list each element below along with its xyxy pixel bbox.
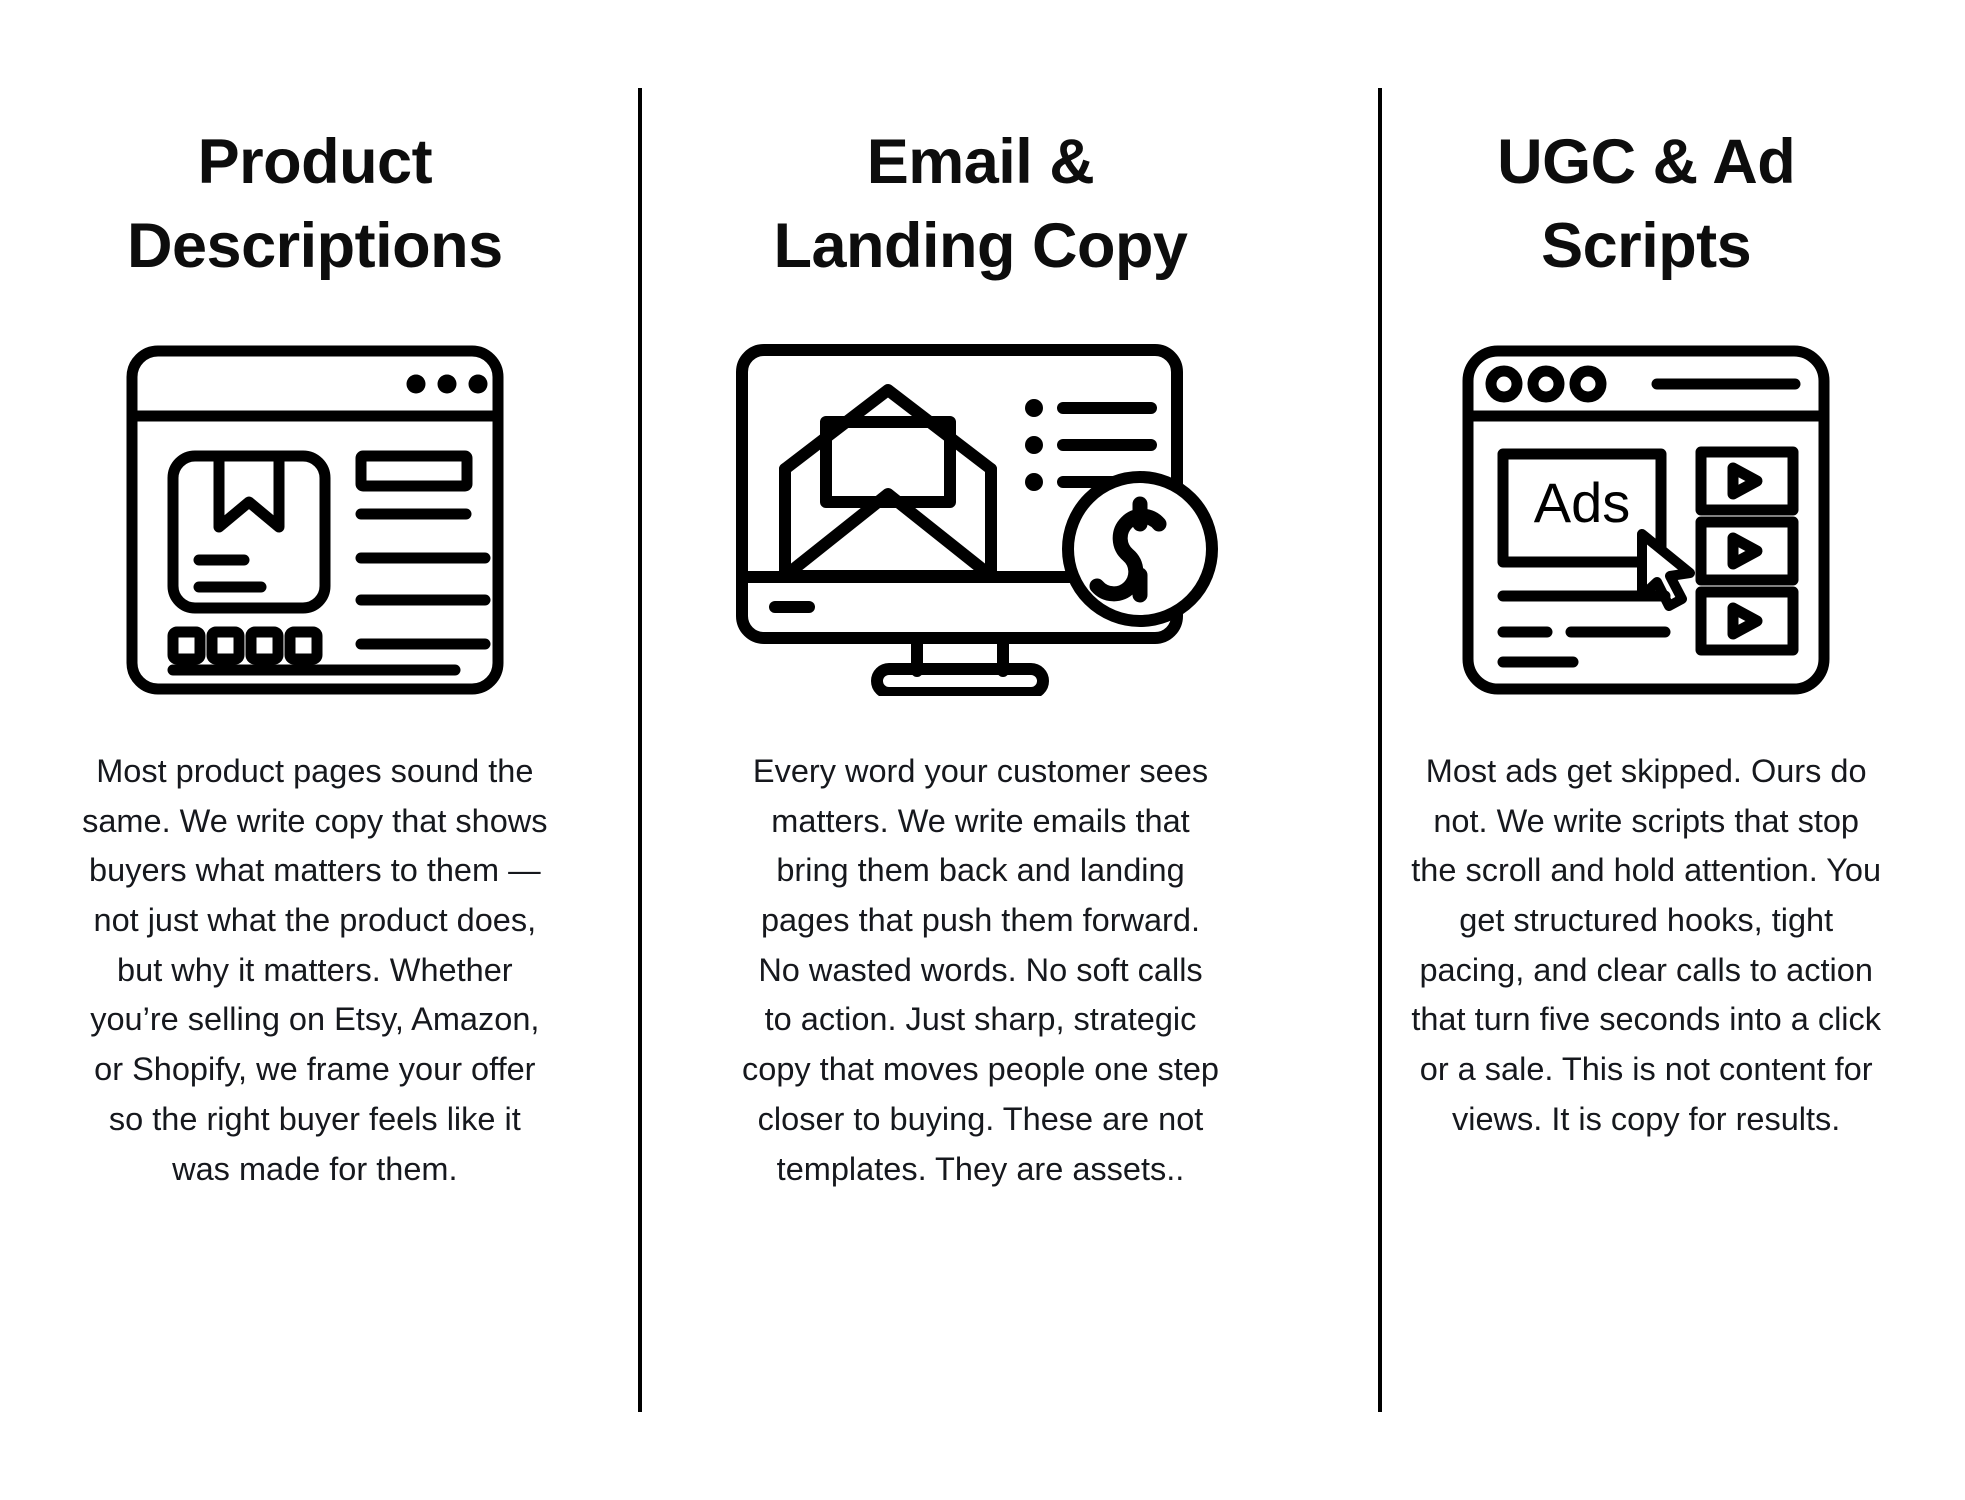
column-divider-1: [638, 88, 642, 1412]
column-divider-2: [1378, 88, 1382, 1412]
column-email-landing-copy: Email & Landing Copy: [650, 0, 1312, 1500]
column-title-ugc-ad-scripts: UGC & Ad Scripts: [1416, 120, 1876, 289]
browser-ads-video-icon: Ads: [1461, 345, 1831, 695]
monitor-envelope-dollar-icon-svg: [731, 344, 1231, 696]
three-column-services-board: Product Descriptions: [0, 0, 1965, 1500]
ads-label: Ads: [1534, 471, 1631, 534]
column-title-product-descriptions: Product Descriptions: [85, 120, 545, 289]
column-body-email-landing-copy: Every word your customer sees matters. W…: [742, 747, 1220, 1194]
column-body-product-descriptions: Most product pages sound the same. We wr…: [80, 747, 550, 1194]
column-ugc-ad-scripts: UGC & Ad Scripts Ads: [1311, 0, 1965, 1500]
column-body-ugc-ad-scripts: Most ads get skipped. Ours do not. We wr…: [1407, 747, 1885, 1145]
browser-ads-video-icon-svg: Ads: [1461, 344, 1831, 696]
browser-product-page-icon-svg: [125, 344, 505, 696]
monitor-envelope-dollar-icon: [731, 345, 1231, 695]
column-title-email-landing-copy: Email & Landing Copy: [751, 120, 1211, 289]
browser-product-page-icon: [125, 345, 505, 695]
column-product-descriptions: Product Descriptions: [0, 0, 650, 1500]
